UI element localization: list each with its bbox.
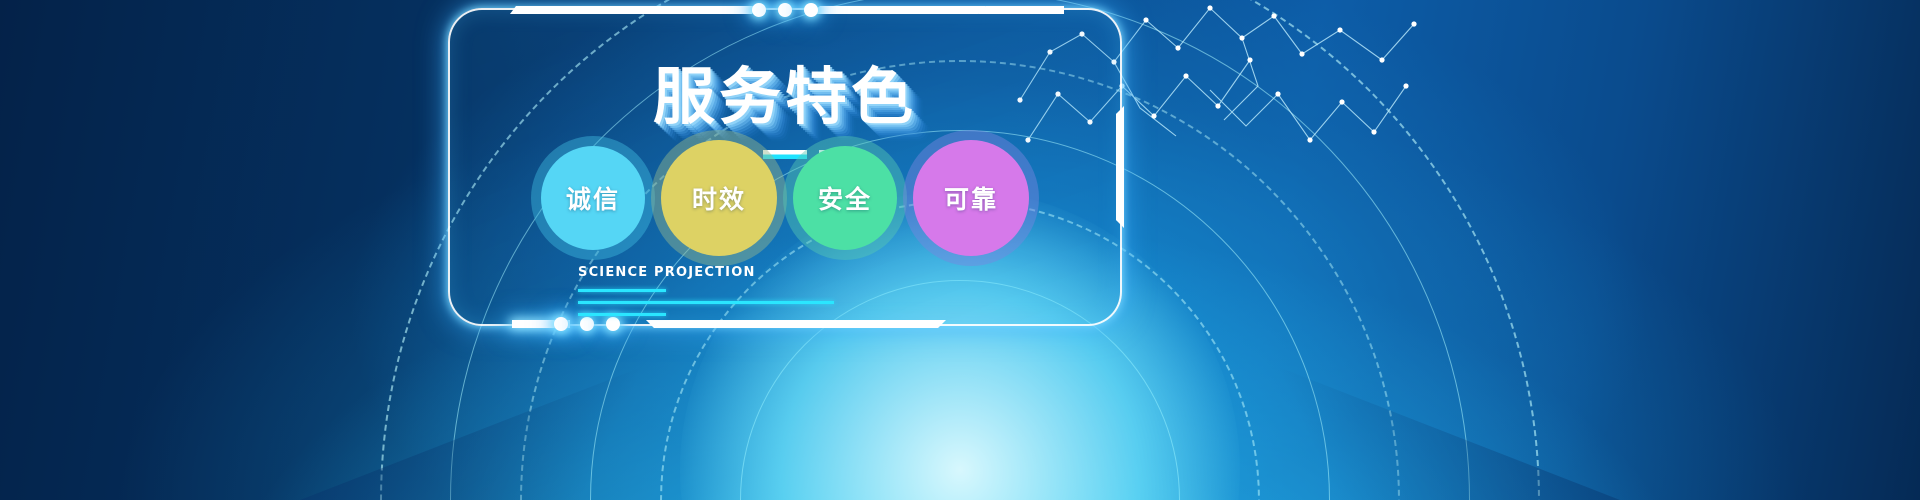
frame-dots-top xyxy=(752,3,818,17)
feature-circle-anquan[interactable]: 安全 xyxy=(793,146,897,250)
feature-label: 可靠 xyxy=(944,180,998,216)
frame-dot xyxy=(778,3,792,17)
frame-dot xyxy=(752,3,766,17)
feature-circle-list: 诚信 时效 安全 可靠 xyxy=(448,140,1122,256)
frame-dot xyxy=(554,317,568,331)
feature-label: 安全 xyxy=(818,180,872,216)
service-features-banner: 服务特色 诚信 时效 安全 可靠 SCI xyxy=(0,0,1920,500)
feature-circle-chengxin[interactable]: 诚信 xyxy=(541,146,645,250)
feature-label: 时效 xyxy=(692,180,746,216)
frame-dot xyxy=(804,3,818,17)
frame-highlight-top-left xyxy=(510,6,760,14)
frame-highlight-top-right xyxy=(978,6,1064,14)
feature-circle-kekao[interactable]: 可靠 xyxy=(913,140,1029,256)
frame-highlight-top-mid xyxy=(810,6,988,14)
feature-circle-shixiao[interactable]: 时效 xyxy=(661,140,777,256)
subtitle-block: SCIENCE PROJECTION xyxy=(578,265,998,325)
subtitle-rule xyxy=(578,301,834,304)
feature-label: 诚信 xyxy=(566,180,620,216)
page-title: 服务特色 xyxy=(653,46,917,136)
subtitle-rule xyxy=(578,313,666,316)
subtitle-rule-lines xyxy=(578,289,998,316)
subtitle-text: SCIENCE PROJECTION xyxy=(578,265,998,280)
subtitle-rule xyxy=(578,289,666,292)
